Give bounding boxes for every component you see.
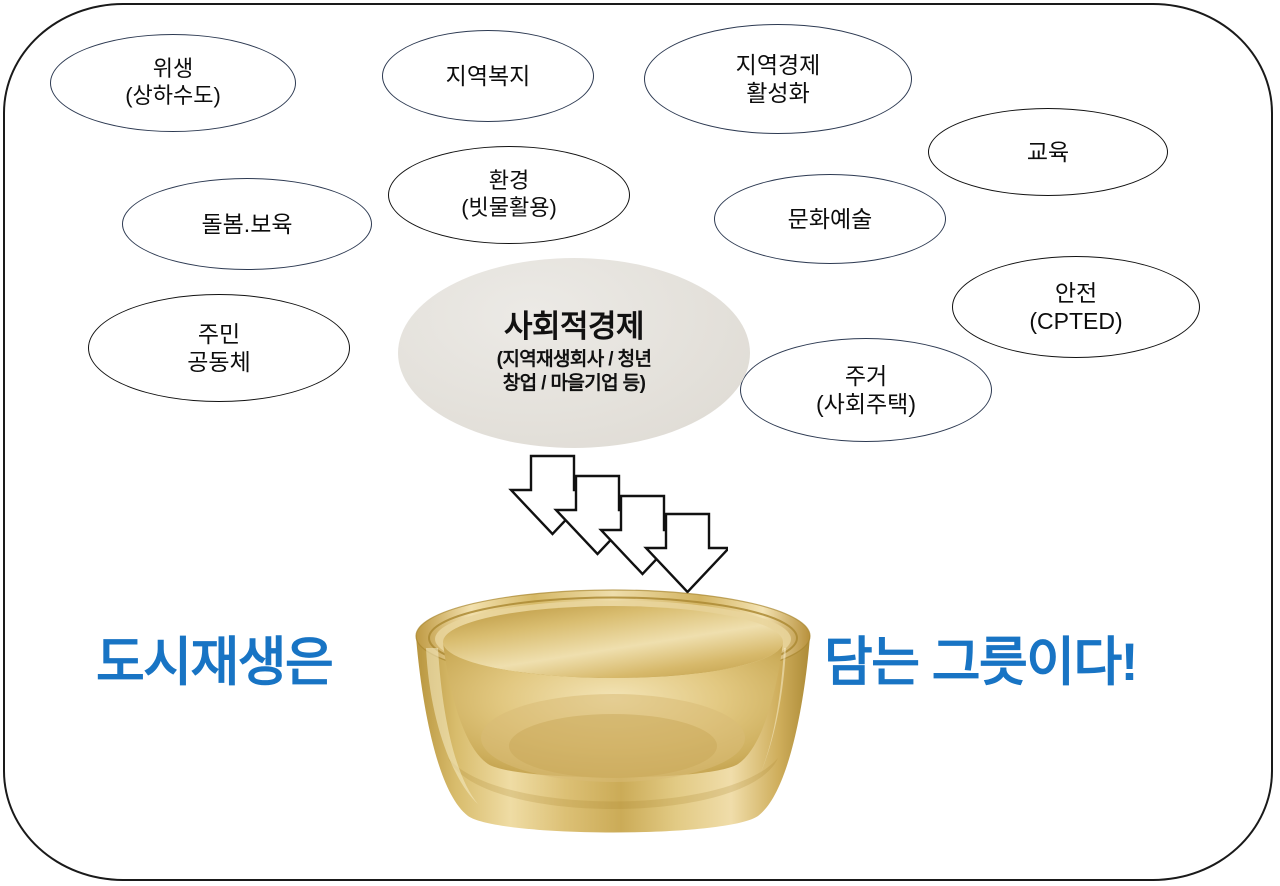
slogan-left: 도시재생은 [96,636,332,689]
node-social-economy-sub-line1: (지역재생회사 / 청년 [497,348,652,372]
node-local-welfare[interactable]: 지역복지 [382,30,594,122]
node-care[interactable]: 돌봄.보육 [122,178,372,270]
node-social-economy-subtitle: (지역재생회사 / 청년 창업 / 마을기업 등) [497,348,652,396]
node-hygiene-line1: 위생 [153,56,193,83]
node-local-economy-line1: 지역경제 [736,51,821,79]
node-social-economy-sub-line2: 창업 / 마을기업 등) [497,372,652,396]
node-education[interactable]: 교육 [928,108,1168,196]
node-social-economy[interactable]: 사회적경제 (지역재생회사 / 청년 창업 / 마을기업 등) [398,258,750,448]
node-housing-line2: (사회주택) [816,390,916,418]
node-safety-line1: 안전 [1055,279,1097,307]
bowl-inner-wall [443,606,783,678]
node-community-line2: 공동체 [187,348,250,376]
node-care-line1: 돌봄.보육 [201,210,292,238]
node-hygiene-line2: (상하수도) [125,83,221,110]
node-culture-arts[interactable]: 문화예술 [714,174,946,264]
node-education-line1: 교육 [1027,138,1069,166]
node-local-welfare-line1: 지역복지 [446,62,531,90]
brass-bowl [408,588,818,838]
cascading-arrows [498,448,728,598]
node-safety[interactable]: 안전 (CPTED) [952,256,1200,358]
diagram-canvas: 위생 (상하수도) 지역복지 지역경제 활성화 교육 환경 (빗물활용) 돌봄.… [0,0,1280,886]
node-community[interactable]: 주민 공동체 [88,294,350,402]
node-social-economy-title: 사회적경제 [504,310,644,344]
node-environment-line2: (빗물활용) [461,195,557,222]
node-housing-line1: 주거 [845,362,887,390]
node-environment-line1: 환경 [489,168,529,195]
slogan-right: 담는 그릇이다! [824,636,1137,689]
node-environment[interactable]: 환경 (빗물활용) [388,146,630,244]
node-housing[interactable]: 주거 (사회주택) [740,338,992,442]
node-local-economy-line2: 활성화 [746,79,809,107]
node-hygiene[interactable]: 위생 (상하수도) [50,34,296,132]
node-culture-arts-line1: 문화예술 [788,205,873,233]
node-local-economy[interactable]: 지역경제 활성화 [644,24,912,134]
node-safety-line2: (CPTED) [1029,307,1122,335]
node-community-line1: 주민 [198,320,240,348]
